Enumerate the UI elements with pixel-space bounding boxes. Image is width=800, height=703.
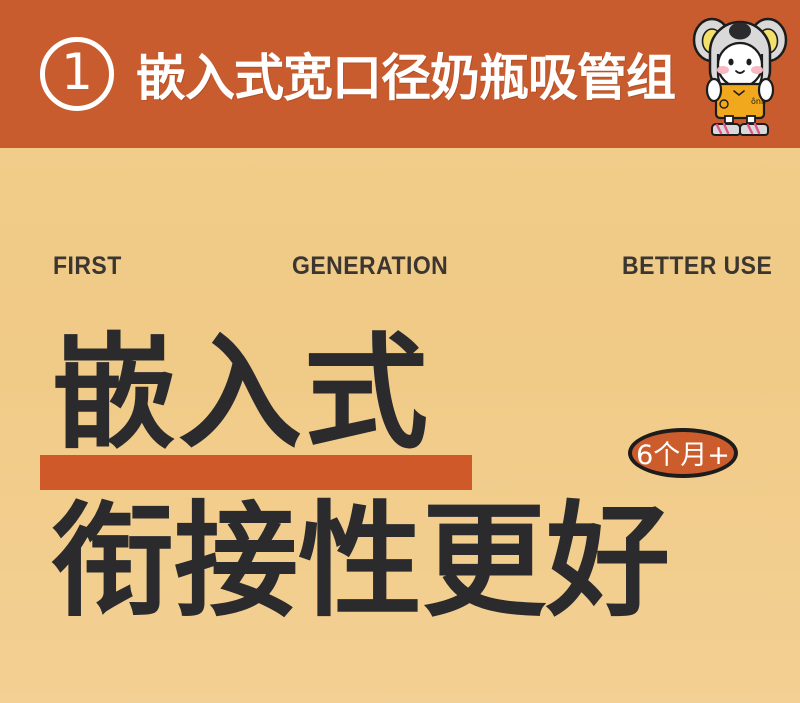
headline-line-two: 衔接性更好 (0, 498, 800, 627)
eyebrow-label-better-use: BETTER USE (622, 252, 772, 281)
headline-line-two-text: 衔接性更好 (50, 490, 670, 634)
step-number-label: 1 (61, 47, 93, 97)
eyebrow-label-generation: GENERATION (292, 252, 448, 281)
step-number-badge: 1 (40, 37, 114, 111)
eyebrow-row: FIRST GENERATION BETTER USE (0, 252, 800, 284)
header-title: 嵌入式宽口径奶瓶吸管组 (136, 38, 675, 110)
headline-line-one-text: 嵌入式 (52, 322, 430, 466)
product-banner: 1 嵌入式宽口径奶瓶吸管组 (0, 0, 800, 703)
koala-mascot-icon: ônn (690, 8, 790, 140)
headline-block: 嵌入式 衔接性更好 (0, 330, 800, 627)
svg-text:ônn: ônn (751, 96, 766, 106)
eyebrow-label-first: FIRST (53, 252, 122, 281)
age-badge-label: 6个月+ (636, 433, 730, 472)
header-bar: 1 嵌入式宽口径奶瓶吸管组 (0, 0, 800, 148)
age-badge: 6个月+ (628, 428, 738, 478)
